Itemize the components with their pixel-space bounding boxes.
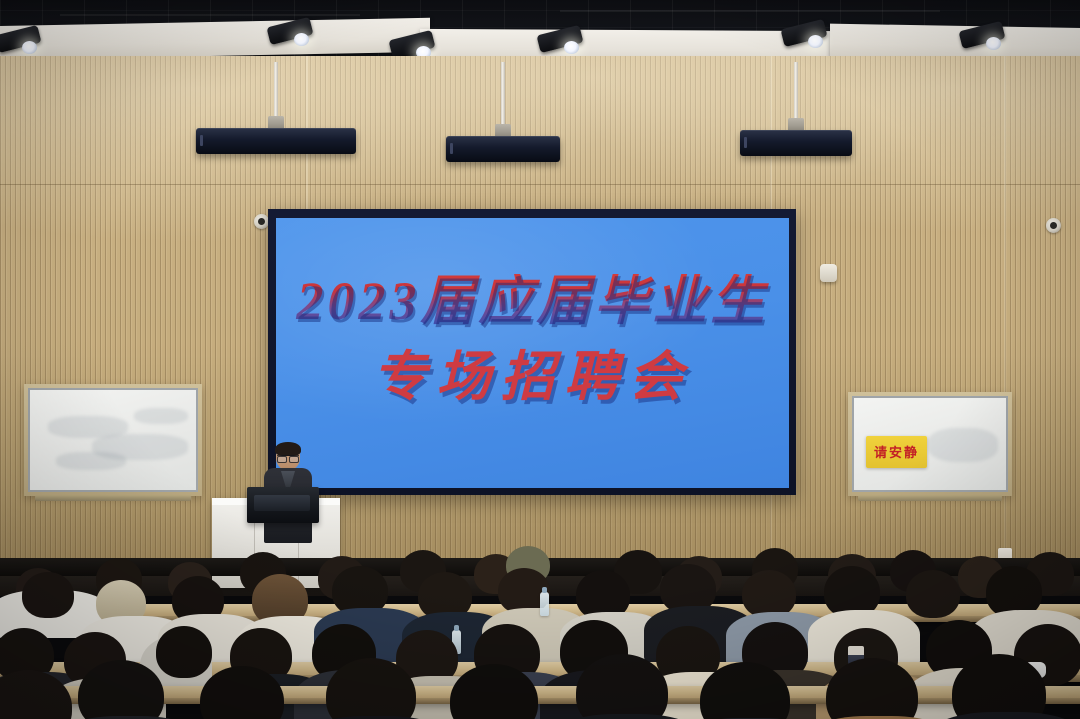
presenter-hair [275, 442, 301, 456]
ceiling-speaker-right [740, 62, 852, 184]
whiteboard-left-surface [28, 388, 198, 492]
projector-screen-frame: 2023届应届毕业生 专场招聘会 [268, 209, 796, 495]
spotlight-icon [960, 26, 1012, 52]
ceiling-beam [560, 10, 940, 12]
audience-head [906, 570, 960, 618]
quiet-sign: 请安静 [866, 436, 927, 468]
whiteboard-right: 请安静 [848, 392, 1012, 496]
podium-laptop [247, 487, 319, 523]
ceiling-speaker-left [196, 62, 356, 180]
ceiling-beam [60, 14, 360, 16]
spotlight-icon [538, 30, 590, 56]
spotlight-icon [268, 22, 320, 48]
audience-area: LONG [0, 520, 1080, 719]
wall-sensor-icon [254, 214, 269, 229]
slide-title-line1: 2023届应届毕业生 [276, 274, 789, 328]
audience-head [22, 572, 74, 618]
whiteboard-left-tray [35, 495, 192, 501]
spotlight-icon [0, 30, 48, 56]
slide-text-block: 2023届应届毕业生 专场招聘会 [276, 274, 789, 404]
glasses-icon [277, 455, 299, 461]
wall-sensor-icon [1046, 218, 1061, 233]
water-bottle [540, 592, 549, 616]
photo-scene: 2023届应届毕业生 专场招聘会 请安静 [0, 0, 1080, 719]
audience-head [742, 570, 796, 618]
ceiling-speaker-center [446, 62, 560, 190]
whiteboard-right-surface: 请安静 [852, 396, 1008, 492]
spotlight-icon [782, 24, 834, 50]
projector-screen: 2023届应届毕业生 专场招聘会 [276, 218, 789, 488]
audience-head [156, 626, 212, 678]
wall-panel-seam [1004, 56, 1006, 596]
whiteboard-left [24, 384, 202, 496]
wall-device-icon [820, 264, 837, 282]
slide-title-line2: 专场招聘会 [276, 350, 789, 404]
whiteboard-right-tray [858, 495, 1002, 501]
